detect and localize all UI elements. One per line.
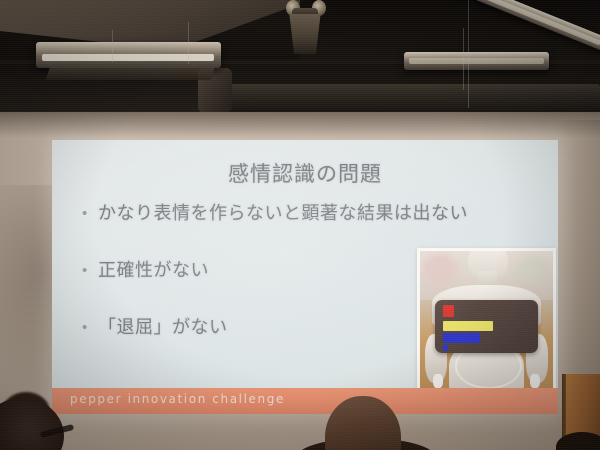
robot-tablet bbox=[435, 300, 539, 353]
tablet-bar-yellow bbox=[443, 321, 493, 331]
bullet-marker-icon: • bbox=[82, 202, 98, 226]
slide-photo-content bbox=[420, 251, 553, 394]
slide-bullet-item: • かなり表情を作らないと顕著な結果は出ない bbox=[82, 202, 528, 226]
hanger-wire bbox=[468, 0, 469, 108]
bullet-marker-icon: • bbox=[82, 316, 98, 340]
robot-hand-right bbox=[530, 374, 539, 388]
slide-footer-bar: pepper innovation challenge bbox=[52, 388, 558, 414]
hanger-wire bbox=[463, 28, 464, 90]
bullet-marker-icon: • bbox=[82, 259, 98, 283]
projected-slide: 感情認識の問題 • かなり表情を作らないと顕著な結果は出ない • 正確性がない … bbox=[52, 140, 558, 414]
bullet-text: 「退屈」がない bbox=[98, 316, 228, 340]
slide-photo bbox=[417, 248, 556, 397]
hanger-wire bbox=[112, 30, 113, 62]
fixture-left-shadow bbox=[46, 66, 216, 80]
bullet-text: 正確性がない bbox=[98, 259, 209, 283]
bullet-text: かなり表情を作らないと顕著な結果は出ない bbox=[98, 202, 468, 226]
robot-hand-left bbox=[433, 374, 442, 388]
ceiling bbox=[0, 0, 600, 128]
fluorescent-fixture-right-icon bbox=[404, 52, 549, 70]
fluorescent-fixture-left-icon bbox=[36, 42, 221, 68]
tablet-bar-blue-small bbox=[443, 345, 448, 352]
slide-title: 感情認識の問題 bbox=[52, 158, 558, 188]
slide-footer-text: pepper innovation challenge bbox=[70, 392, 285, 406]
tablet-bar-red bbox=[443, 305, 454, 317]
photo-scene: 感情認識の問題 • かなり表情を作らないと顕著な結果は出ない • 正確性がない … bbox=[0, 0, 600, 450]
photo-background-blur-right bbox=[516, 257, 548, 283]
hanger-wire bbox=[188, 22, 189, 64]
light-tube bbox=[409, 58, 544, 64]
ductwork-main bbox=[205, 84, 600, 112]
tablet-bar-blue bbox=[443, 333, 480, 343]
